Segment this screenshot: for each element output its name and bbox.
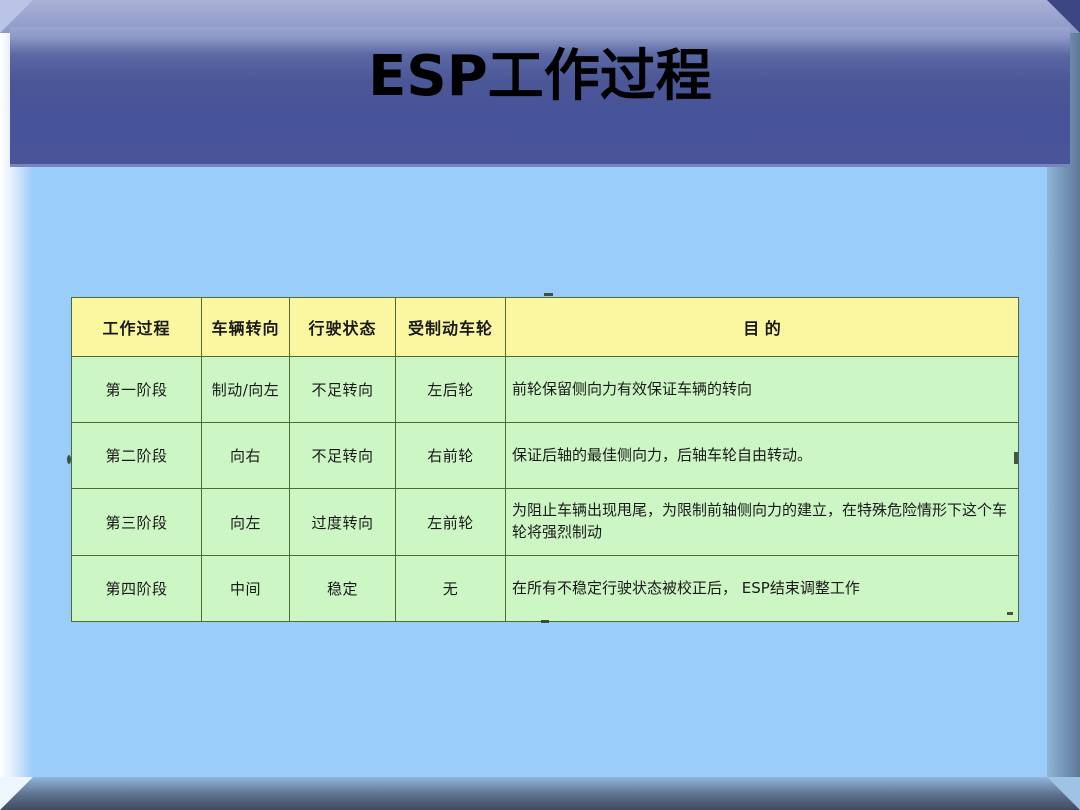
cell-purpose: 为阻止车辆出现甩尾，为限制前轴侧向力的建立，在特殊危险情形下这个车轮将强烈制动: [506, 489, 1019, 556]
cell-braked-wheel: 左前轮: [396, 489, 506, 556]
column-header-stage: 工作过程: [72, 298, 202, 357]
cell-driving-state: 过度转向: [290, 489, 396, 556]
cell-stage: 第一阶段: [72, 357, 202, 423]
page-title: ESP工作过程: [0, 49, 1080, 105]
cell-purpose: 前轮保留侧向力有效保证车辆的转向: [506, 357, 1019, 423]
column-header-steering: 车辆转向: [202, 298, 290, 357]
table-row: 第四阶段 中间 稳定 无 在所有不稳定行驶状态被校正后， ESP结束调整工作: [72, 556, 1019, 622]
esp-process-table: 工作过程 车辆转向 行驶状态 受制动车轮 目 的 第一阶段 制动/向左 不足转向…: [71, 297, 1019, 622]
esp-process-table-wrapper: 工作过程 车辆转向 行驶状态 受制动车轮 目 的 第一阶段 制动/向左 不足转向…: [71, 297, 1018, 622]
cell-stage: 第二阶段: [72, 423, 202, 489]
cell-stage: 第四阶段: [72, 556, 202, 622]
cell-driving-state: 稳定: [290, 556, 396, 622]
frame-bottom-bevel: [0, 777, 1080, 810]
column-header-braked-wheel: 受制动车轮: [396, 298, 506, 357]
cell-braked-wheel: 左后轮: [396, 357, 506, 423]
cell-purpose: 保证后轴的最佳侧向力，后轴车轮自由转动。: [506, 423, 1019, 489]
title-banner-underline: [10, 164, 1070, 167]
table-header-row: 工作过程 车辆转向 行驶状态 受制动车轮 目 的: [72, 298, 1019, 357]
frame-corner-bottom-right: [1047, 777, 1080, 810]
frame-corner-bottom-left: [0, 777, 33, 810]
cell-driving-state: 不足转向: [290, 423, 396, 489]
cell-steering: 向左: [202, 489, 290, 556]
slide: ESP工作过程 工作过程 车辆转向 行驶状态 受制动车轮 目 的 第一阶段 制动: [0, 0, 1080, 810]
cell-steering: 制动/向左: [202, 357, 290, 423]
cell-steering: 中间: [202, 556, 290, 622]
column-header-purpose: 目 的: [506, 298, 1019, 357]
cell-stage: 第三阶段: [72, 489, 202, 556]
cell-purpose: 在所有不稳定行驶状态被校正后， ESP结束调整工作: [506, 556, 1019, 622]
table-row: 第一阶段 制动/向左 不足转向 左后轮 前轮保留侧向力有效保证车辆的转向: [72, 357, 1019, 423]
column-header-driving-state: 行驶状态: [290, 298, 396, 357]
table-row: 第二阶段 向右 不足转向 右前轮 保证后轴的最佳侧向力，后轴车轮自由转动。: [72, 423, 1019, 489]
cell-driving-state: 不足转向: [290, 357, 396, 423]
table-row: 第三阶段 向左 过度转向 左前轮 为阻止车辆出现甩尾，为限制前轴侧向力的建立，在…: [72, 489, 1019, 556]
cell-braked-wheel: 右前轮: [396, 423, 506, 489]
cell-braked-wheel: 无: [396, 556, 506, 622]
cell-steering: 向右: [202, 423, 290, 489]
scan-artifact-top: [544, 293, 553, 296]
